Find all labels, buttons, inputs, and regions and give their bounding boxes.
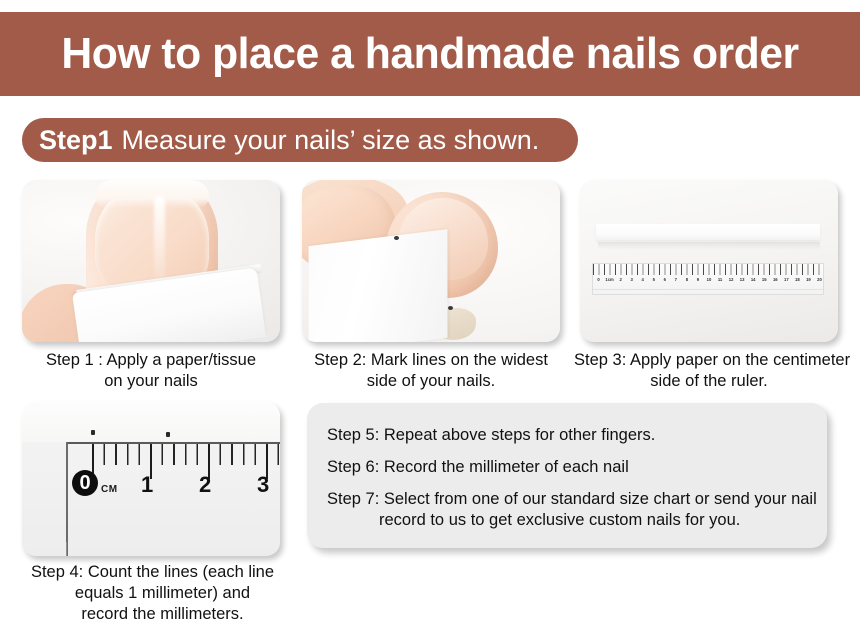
photo-card-step2 bbox=[302, 180, 560, 342]
pencil-mark-lower-icon bbox=[448, 306, 453, 310]
ruler-tick-label: 17 bbox=[781, 275, 792, 285]
ruler-tick-label: 15 bbox=[759, 275, 770, 285]
caption-line: on your nails bbox=[6, 371, 296, 392]
ruler-tick-label: 3 bbox=[626, 275, 637, 285]
ruler-major-ticks bbox=[593, 264, 824, 275]
paper-strip-shadow bbox=[598, 242, 820, 250]
step1-label: Step1 bbox=[39, 125, 113, 156]
ruler-tick-label: 1cm bbox=[604, 275, 615, 285]
fingers-holding-marked-strip-photo bbox=[302, 180, 560, 342]
ruler-centimeter-ticks bbox=[92, 444, 280, 479]
caption-line: record the millimeters. bbox=[10, 604, 295, 625]
step6-row: Step 6: Record the millimeter of each na… bbox=[327, 457, 827, 478]
ruler-number-2: 2 bbox=[199, 472, 211, 498]
ruler-tick-label: 13 bbox=[737, 275, 748, 285]
photo-card-step4: 0 CM 1 2 3 bbox=[22, 402, 280, 556]
ruler-tick-label: 19 bbox=[803, 275, 814, 285]
transparent-ruler-shape: 01cm234567891011121314151617181920 bbox=[592, 263, 824, 295]
paper-above-ruler bbox=[22, 402, 280, 440]
ruler-tick-label: 0 bbox=[593, 275, 604, 285]
ruler-closeup-photo: 0 CM 1 2 3 bbox=[22, 402, 280, 556]
caption-line: equals 1 millimeter) and bbox=[10, 583, 295, 604]
caption-step2: Step 2: Mark lines on the widest side of… bbox=[302, 350, 560, 392]
caption-step1: Step 1 : Apply a paper/tissue on your na… bbox=[6, 350, 296, 392]
ruler-left-edge bbox=[66, 442, 68, 556]
ruler-body-line bbox=[593, 289, 824, 290]
steps-5-to-7-panel: Step 5: Repeat above steps for other fin… bbox=[307, 403, 827, 548]
caption-step4: Step 4: Count the lines (each line equal… bbox=[10, 562, 295, 625]
pencil-mark-upper-icon bbox=[394, 236, 399, 240]
nail-tip-highlight bbox=[95, 180, 209, 208]
ruler-tick-label: 2 bbox=[615, 275, 626, 285]
step1-pill: Step1 Measure your nails’ size as shown. bbox=[22, 118, 578, 162]
ruler-number-labels: 01cm234567891011121314151617181920 bbox=[593, 275, 824, 285]
ruler-tick-label: 8 bbox=[681, 275, 692, 285]
ruler-tick-label: 5 bbox=[648, 275, 659, 285]
ruler-tick-label: 20 bbox=[814, 275, 824, 285]
ruler-tick-label: 6 bbox=[659, 275, 670, 285]
caption-line: Step 1 : Apply a paper/tissue bbox=[6, 350, 296, 371]
step1-description: Measure your nails’ size as shown. bbox=[122, 125, 540, 156]
ruler-tick-label: 14 bbox=[748, 275, 759, 285]
ruler-with-paper-strip-photo: 01cm234567891011121314151617181920 bbox=[580, 180, 838, 342]
ruler-tick-label: 11 bbox=[715, 275, 726, 285]
paper-strip-shape bbox=[309, 229, 448, 342]
ruler-tick-label: 10 bbox=[703, 275, 714, 285]
step7-row: Step 7: Select from one of our standard … bbox=[327, 489, 827, 531]
step7-line1: Step 7: Select from one of our standard … bbox=[327, 490, 817, 508]
ruler-tick-label: 16 bbox=[770, 275, 781, 285]
nail-shine-highlight bbox=[154, 196, 165, 282]
thumb-with-paper-strip-photo bbox=[22, 180, 280, 342]
ruler-number-1: 1 bbox=[141, 472, 153, 498]
pencil-mark-left-icon bbox=[91, 430, 95, 435]
caption-step3: Step 3: Apply paper on the centimeter si… bbox=[574, 350, 844, 392]
ruler-tick-label: 18 bbox=[792, 275, 803, 285]
caption-line: Step 2: Mark lines on the widest bbox=[302, 350, 560, 371]
caption-line: side of the ruler. bbox=[574, 371, 844, 392]
caption-line: Step 3: Apply paper on the centimeter bbox=[574, 350, 844, 371]
ruler-tick-label: 7 bbox=[670, 275, 681, 285]
ruler-number-3: 3 bbox=[257, 472, 269, 498]
ruler-zero-badge: 0 bbox=[72, 470, 98, 496]
photo-card-step3: 01cm234567891011121314151617181920 bbox=[580, 180, 838, 342]
page-title: How to place a handmade nails order bbox=[61, 32, 798, 76]
step7-line2: record to us to get exclusive custom nai… bbox=[327, 510, 827, 531]
step5-row: Step 5: Repeat above steps for other fin… bbox=[327, 425, 827, 446]
ruler-tick-label: 9 bbox=[692, 275, 703, 285]
ruler-tick-label: 12 bbox=[726, 275, 737, 285]
photo-card-step1 bbox=[22, 180, 280, 342]
paper-strip-shape bbox=[596, 224, 820, 240]
caption-line: side of your nails. bbox=[302, 371, 560, 392]
ruler-unit-label: CM bbox=[101, 484, 118, 495]
ruler-tick-label: 4 bbox=[637, 275, 648, 285]
header-banner: How to place a handmade nails order bbox=[0, 12, 860, 96]
caption-line: Step 4: Count the lines (each line bbox=[10, 562, 295, 583]
photo-background bbox=[580, 180, 838, 342]
ruler-lower-edge bbox=[66, 542, 67, 556]
pencil-mark-right-icon bbox=[166, 432, 170, 437]
